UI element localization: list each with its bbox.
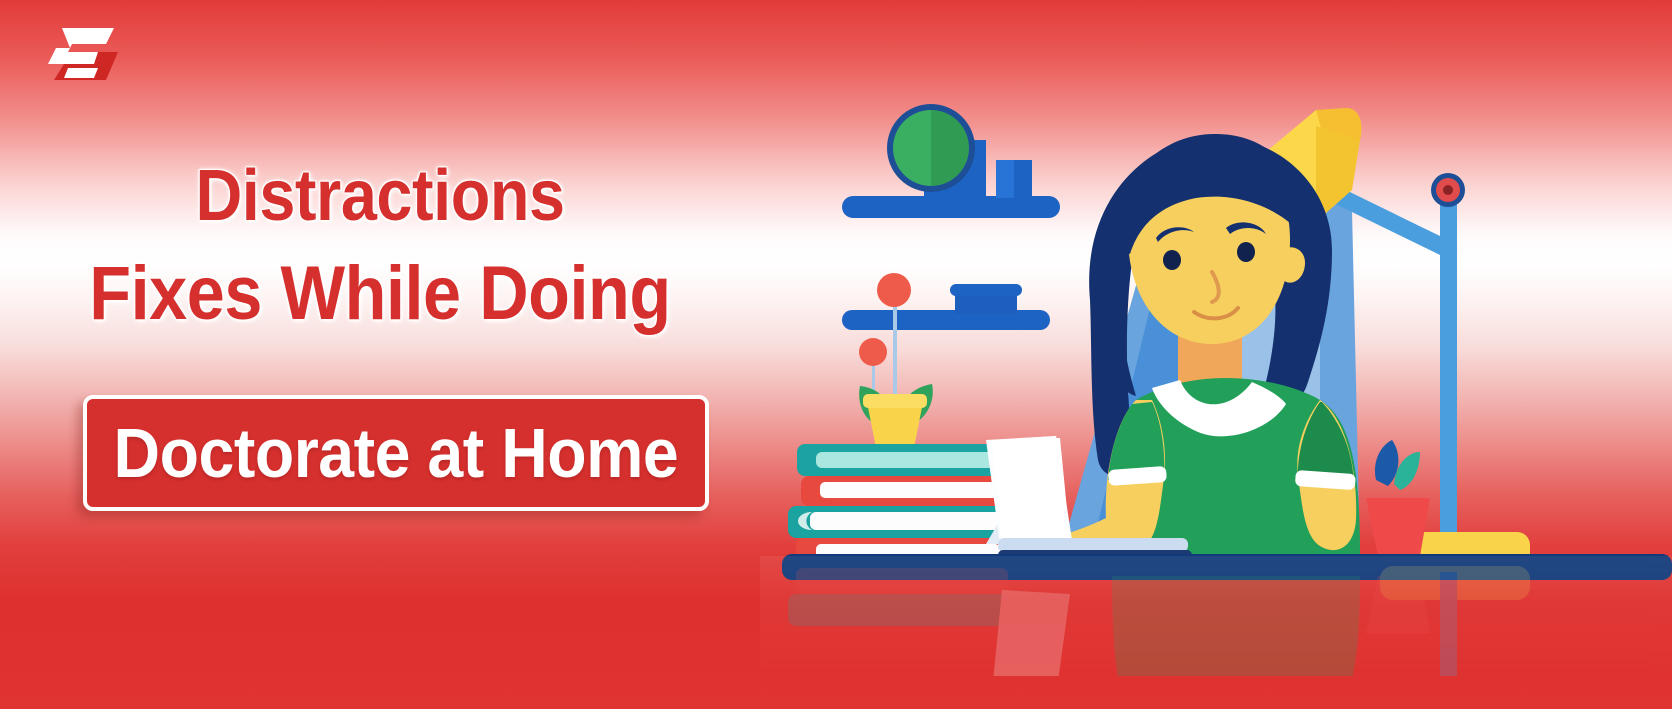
desk-reflection — [760, 556, 1672, 709]
brand-logo[interactable] — [40, 22, 120, 88]
promotional-banner: Distractions Fixes While Doing Doctorate… — [0, 0, 1672, 709]
blue-box-decoration — [996, 160, 1032, 198]
stylized-s-logo-icon — [40, 22, 120, 88]
globe-decoration — [887, 104, 986, 196]
headline-block: Distractions Fixes While Doing — [0, 160, 760, 332]
cta-plate[interactable]: Doctorate at Home — [83, 395, 709, 511]
wall-shelf-lower — [842, 310, 1050, 330]
illustration-woman-studying — [760, 0, 1672, 709]
potted-plant — [859, 273, 933, 448]
small-pot-plant — [1366, 440, 1430, 556]
headline-line-1: Distractions — [38, 160, 722, 232]
headline-line-2: Fixes While Doing — [38, 256, 722, 332]
blue-cylinder-decoration — [950, 284, 1022, 314]
wall-shelf-upper — [842, 196, 1060, 218]
cta-label: Doctorate at Home — [114, 418, 679, 488]
book-stack — [788, 444, 1013, 564]
